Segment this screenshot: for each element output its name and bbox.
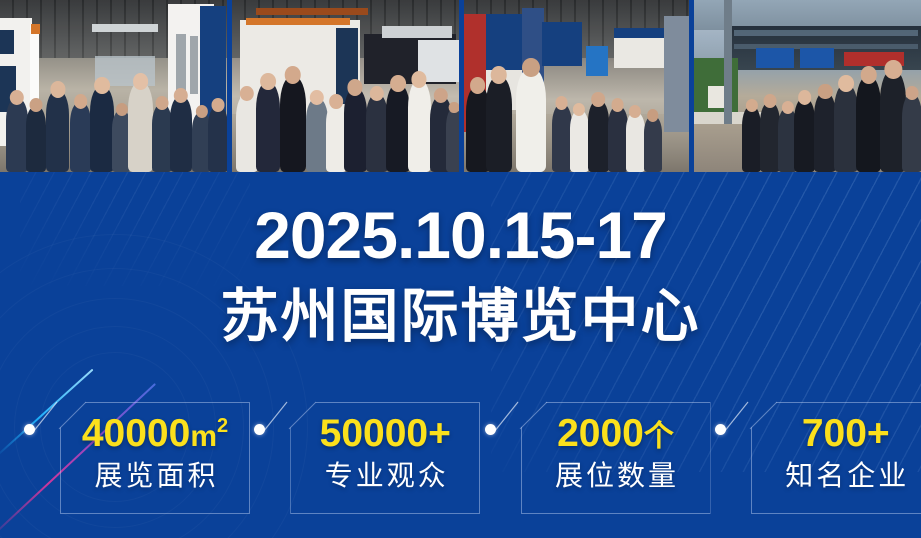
stat-label: 专业观众 (290, 462, 480, 490)
stat-label: 展位数量 (521, 462, 711, 490)
stat-card-professional-visitors[interactable]: 50000+ 专业观众 (290, 394, 460, 514)
stat-superscript: 2 (217, 415, 228, 437)
stat-number: 50000 (320, 412, 428, 455)
stat-value: 50000+ (290, 414, 480, 453)
stat-suffix: + (867, 412, 890, 455)
stat-unit: m (190, 420, 217, 453)
stat-card-booth-count[interactable]: 2000个 展位数量 (521, 394, 691, 514)
photo-panel-booth-corridor (464, 0, 690, 172)
banner-body: 2025.10.15-17 苏州国际博览中心 40000m2 展览面积 (0, 172, 921, 538)
stat-value: 40000m2 (60, 414, 250, 453)
stat-bullet-dot (254, 424, 265, 435)
photo-panel-machine-booth-visitors (232, 0, 459, 172)
stat-label: 知名企业 (751, 462, 921, 490)
stat-card-exhibition-area[interactable]: 40000m2 展览面积 (60, 394, 230, 514)
stat-value: 2000个 (521, 414, 711, 453)
stat-unit: 个 (644, 420, 674, 453)
stat-number: 40000 (82, 412, 190, 455)
stat-number: 2000 (557, 412, 644, 455)
event-date: 2025.10.15-17 (0, 172, 921, 268)
photo-strip (0, 0, 921, 172)
event-venue: 苏州国际博览中心 (0, 268, 921, 349)
stats-row: 40000m2 展览面积 50000+ 专业观众 (0, 394, 921, 538)
stat-bullet-dot (485, 424, 496, 435)
stat-value: 700+ (751, 414, 921, 453)
stat-bullet-dot (24, 424, 35, 435)
stat-label: 展览面积 (60, 462, 250, 490)
stat-suffix: + (428, 412, 451, 455)
photo-panel-entrance-queue-outdoor (694, 0, 921, 172)
stat-bullet-dot (715, 424, 726, 435)
exhibition-banner: 2025.10.15-17 苏州国际博览中心 40000m2 展览面积 (0, 0, 921, 538)
headline-block: 2025.10.15-17 苏州国际博览中心 (0, 172, 921, 349)
stat-card-famous-enterprises[interactable]: 700+ 知名企业 (751, 394, 921, 514)
stat-number: 700 (802, 412, 867, 455)
photo-panel-hall-aisle-crowd (0, 0, 227, 172)
